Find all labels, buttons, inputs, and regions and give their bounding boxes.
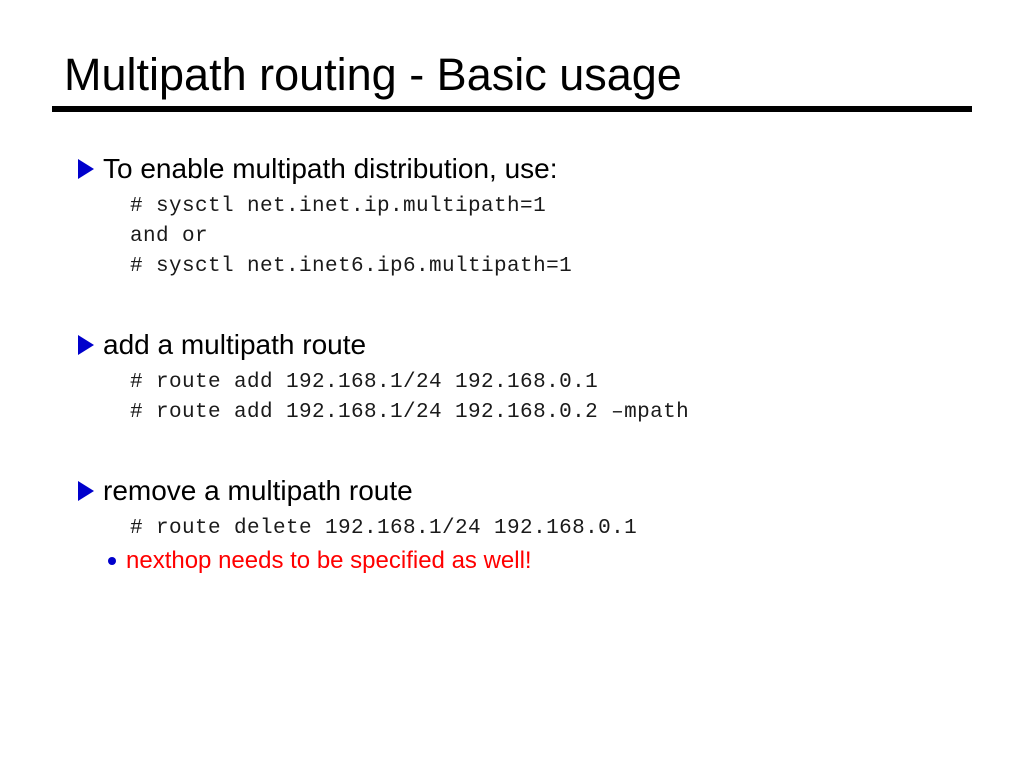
slide-canvas: Multipath routing - Basic usage To enabl…: [0, 0, 1024, 768]
sub-bullet-label: nexthop needs to be specified as well!: [126, 546, 532, 576]
dot-icon: [108, 557, 116, 565]
sub-bullet-item: nexthop needs to be specified as well!: [0, 546, 1024, 578]
slide-body: To enable multipath distribution, use: #…: [0, 152, 1024, 578]
code-line: # route delete 192.168.1/24 192.168.0.1: [0, 514, 1024, 544]
code-line: # route add 192.168.1/24 192.168.0.2 –mp…: [0, 398, 1024, 428]
page-title: Multipath routing - Basic usage: [52, 48, 972, 102]
bullet-item-label: add a multipath route: [103, 328, 366, 362]
bullet-item-label: remove a multipath route: [103, 474, 413, 508]
code-line: # sysctl net.inet6.ip6.multipath=1: [0, 252, 1024, 282]
bullet-item: To enable multipath distribution, use:: [0, 152, 1024, 188]
triangle-right-icon: [78, 335, 94, 355]
content-group-remove-route: remove a multipath route # route delete …: [0, 474, 1024, 578]
bullet-item: add a multipath route: [0, 328, 1024, 364]
bullet-item: remove a multipath route: [0, 474, 1024, 510]
code-line: # sysctl net.inet.ip.multipath=1: [0, 192, 1024, 222]
triangle-right-icon: [78, 159, 94, 179]
code-line: and or: [0, 222, 1024, 252]
content-group-add-route: add a multipath route # route add 192.16…: [0, 328, 1024, 428]
triangle-right-icon: [78, 481, 94, 501]
title-underline-rule: [52, 106, 972, 112]
title-block: Multipath routing - Basic usage: [52, 48, 972, 112]
code-line: # route add 192.168.1/24 192.168.0.1: [0, 368, 1024, 398]
content-group-enable-multipath: To enable multipath distribution, use: #…: [0, 152, 1024, 282]
bullet-item-label: To enable multipath distribution, use:: [103, 152, 558, 186]
